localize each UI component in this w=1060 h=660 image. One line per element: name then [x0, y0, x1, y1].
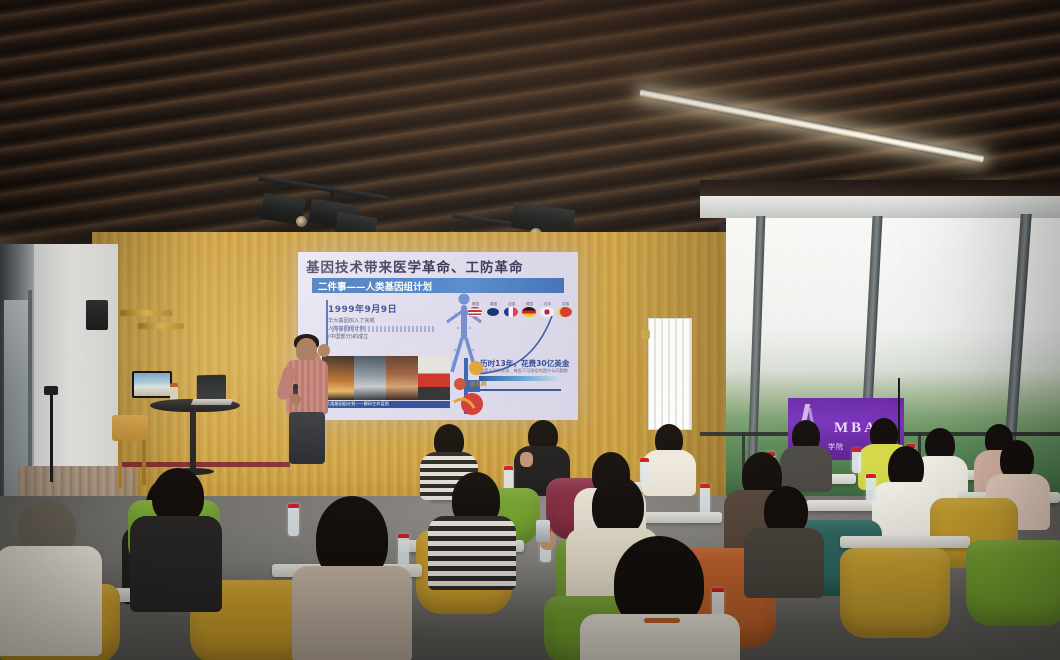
- chair-foreground-yellow-3[interactable]: [840, 548, 950, 638]
- attendee-body-far-3: [642, 450, 696, 496]
- water-bottle-mid-2: [866, 474, 876, 502]
- mic-stand-pole: [50, 392, 53, 482]
- smartphone: [536, 520, 550, 542]
- attendee-head-near-mid-1: [592, 476, 644, 536]
- dna-sequence-strip: [332, 326, 436, 332]
- attendee-body-fg-1: [0, 546, 102, 656]
- water-bottle-far-2: [640, 458, 649, 483]
- presenter-laptop-keyboard: [191, 399, 233, 405]
- presenter-trousers: [289, 412, 325, 464]
- banner-subtitle: 学院: [828, 442, 844, 452]
- wooden-stool-leg-right: [142, 440, 146, 485]
- wall-display-panel[interactable]: [132, 371, 172, 398]
- water-bottle-mid-1: [700, 484, 710, 514]
- attendee-body-fg-6: [744, 528, 824, 598]
- window-top-frame: [700, 196, 1060, 218]
- desk-foreground-3: [840, 536, 970, 548]
- presenter-laptop-screen: [197, 375, 226, 402]
- presenter-mic-hand: [290, 394, 301, 405]
- flag-label-de: 德国: [522, 302, 537, 307]
- mic-stand-head: [44, 386, 58, 395]
- slide-date-heading: 1999年9月9日: [328, 302, 402, 315]
- slide-subtitle: 二件事——人类基因组计划: [318, 279, 432, 293]
- photo-scientists: [354, 356, 386, 400]
- attendee-hand-far-2: [520, 452, 533, 467]
- flag-label-cn: 中国: [558, 302, 573, 307]
- attendee-lanyard-fg-4: [644, 618, 680, 623]
- wall-speaker: [86, 300, 108, 330]
- chair-foreground-green-3[interactable]: [966, 540, 1060, 626]
- flag-label-fr: 法国: [504, 302, 519, 307]
- presenter-raised-hand: [318, 344, 330, 357]
- attendee-body-fg-2: [130, 516, 222, 612]
- wall-sign-line-1: [120, 310, 172, 316]
- radiator-valve: [641, 330, 650, 339]
- stage-light-lens-1: [296, 216, 307, 227]
- photo-conference: [386, 356, 418, 400]
- wall-display-screen: [134, 373, 170, 396]
- presenter: [276, 332, 342, 464]
- wall-radiator: [648, 318, 692, 430]
- water-bottle-far-4: [852, 448, 861, 473]
- slide-title: 基因技术带来医学革命、工防革命: [306, 256, 572, 276]
- podium-table-leg: [190, 410, 196, 472]
- wooden-stool-leg-left: [118, 440, 122, 488]
- abstract-art-graphic: [448, 358, 494, 420]
- attendee-body-fg-5: [428, 516, 516, 590]
- wall-sign: [118, 310, 198, 336]
- flag-label-jp: 日本: [540, 302, 555, 307]
- water-bottle-near-2: [398, 534, 409, 568]
- flag-label-uk: 英国: [486, 302, 501, 307]
- lecture-hall-photo: 基因技术带来医学革命、工防革命 二件事——人类基因组计划 1999年9月9日 华…: [0, 0, 1060, 660]
- photo-journal-cover: [418, 356, 450, 400]
- art-graphic-svg: [448, 358, 494, 420]
- wall-sign-line-2: [138, 323, 184, 329]
- star-label: 星系列: [470, 380, 487, 388]
- water-bottle-near-1: [288, 504, 299, 536]
- flag-label-us: 美国: [468, 302, 483, 307]
- wooden-stool-back: [112, 415, 148, 441]
- attendee-body-fg-3: [292, 566, 412, 660]
